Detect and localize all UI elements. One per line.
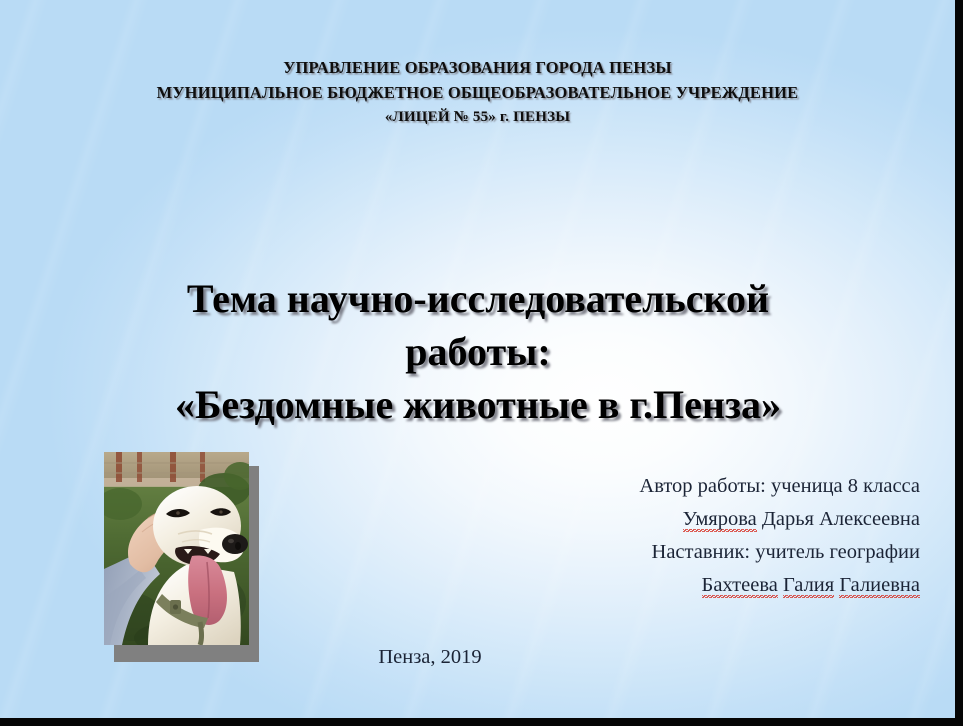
credit-mentor-surname: Бахтеева xyxy=(702,574,778,599)
credit-mentor-role-text: Наставник: учитель географии xyxy=(652,541,920,563)
dog-photo-container xyxy=(104,452,260,662)
title-line-1: Тема научно-исследовательской xyxy=(48,272,908,325)
org-header-line-1: УПРАВЛЕНИЕ ОБРАЗОВАНИЯ ГОРОДА ПЕНЗЫ xyxy=(0,55,955,80)
slide-background: УПРАВЛЕНИЕ ОБРАЗОВАНИЯ ГОРОДА ПЕНЗЫ МУНИ… xyxy=(0,0,955,718)
author-credits: Автор работы: ученица 8 класса Умярова Д… xyxy=(400,470,920,602)
organization-header: УПРАВЛЕНИЕ ОБРАЗОВАНИЯ ГОРОДА ПЕНЗЫ МУНИ… xyxy=(0,55,955,130)
org-header-line-3: «ЛИЦЕЙ № 55» г. ПЕНЗЫ xyxy=(0,105,955,130)
title-line-3: «Бездомные животные в г.Пенза» xyxy=(48,378,908,431)
credit-line-mentor-name: Бахтеева Галия Галиевна xyxy=(400,569,920,602)
place-and-year: Пенза, 2019 xyxy=(300,643,560,671)
page-title: Тема научно-исследовательской работы: «Б… xyxy=(48,272,908,431)
presentation-slide: УПРАВЛЕНИЕ ОБРАЗОВАНИЯ ГОРОДА ПЕНЗЫ МУНИ… xyxy=(0,0,963,726)
title-line-2: работы: xyxy=(48,325,908,378)
slide-frame-right-border xyxy=(955,0,963,726)
credit-line-author-name: Умярова Дарья Алексеевна xyxy=(400,503,920,536)
credit-line-author-role: Автор работы: ученица 8 класса xyxy=(400,470,920,503)
credit-author-firstname: Дарья Алексеевна xyxy=(762,508,920,530)
slide-frame-bottom-border xyxy=(0,718,963,726)
dog-photo xyxy=(104,452,249,645)
dog-photo-image xyxy=(104,452,249,645)
org-header-line-2: МУНИЦИПАЛЬНОЕ БЮДЖЕТНОЕ ОБЩЕОБРАЗОВАТЕЛЬ… xyxy=(0,80,955,105)
credit-mentor-firstname: Галия xyxy=(783,574,834,599)
credit-line-mentor-role: Наставник: учитель географии xyxy=(400,536,920,569)
credit-author-role-text: Автор работы: ученица 8 класса xyxy=(639,475,920,497)
credit-author-surname: Умярова xyxy=(683,508,757,533)
credit-mentor-patronymic: Галиевна xyxy=(839,574,920,599)
